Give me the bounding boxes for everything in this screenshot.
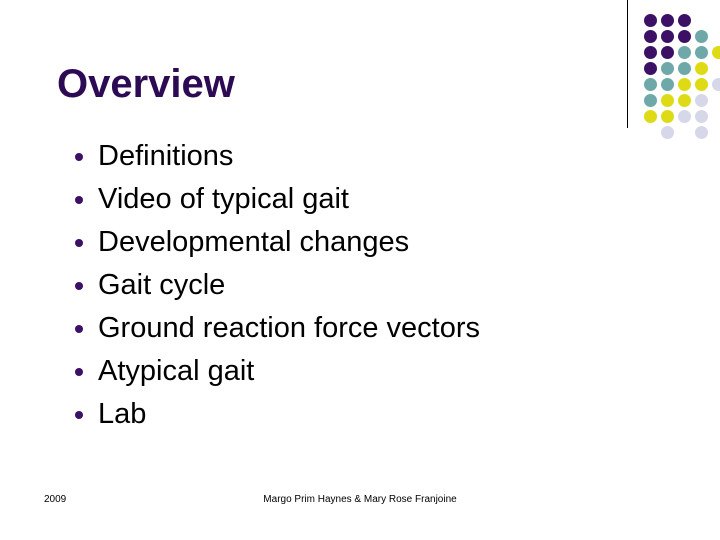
list-item-label: Lab — [98, 393, 146, 436]
slide-canvas: Overview Definitions Video of typical ga… — [0, 0, 720, 540]
decorative-dot — [644, 110, 657, 123]
decorative-dot — [695, 94, 708, 107]
decorative-dot — [661, 62, 674, 75]
decorative-dot — [661, 94, 674, 107]
decorative-dot — [695, 30, 708, 43]
list-item-label: Developmental changes — [98, 221, 409, 264]
decorative-dot — [712, 46, 720, 59]
decorative-dot — [695, 110, 708, 123]
decorative-dot — [695, 78, 708, 91]
page-title: Overview — [57, 63, 235, 105]
list-item-label: Definitions — [98, 135, 233, 178]
decorative-dot — [695, 62, 708, 75]
bullet-marker-icon — [75, 239, 83, 247]
decorative-dot — [661, 30, 674, 43]
decorative-dot — [695, 126, 708, 139]
decorative-dot — [678, 46, 691, 59]
decorative-dot — [644, 62, 657, 75]
decorative-dot — [661, 78, 674, 91]
list-item: Lab — [72, 393, 612, 436]
decorative-dot — [712, 78, 720, 91]
list-item-label: Video of typical gait — [98, 178, 349, 221]
decorative-dot — [678, 110, 691, 123]
list-item-label: Gait cycle — [98, 264, 225, 307]
decorative-dot — [678, 14, 691, 27]
bullet-marker-icon — [75, 153, 83, 161]
decorative-dot — [644, 94, 657, 107]
decorative-dot — [678, 30, 691, 43]
overview-bullet-list: Definitions Video of typical gait Develo… — [72, 135, 612, 436]
decorative-dot — [678, 94, 691, 107]
list-item: Developmental changes — [72, 221, 612, 264]
decorative-dot — [661, 110, 674, 123]
decorative-dot — [661, 46, 674, 59]
list-item: Gait cycle — [72, 264, 612, 307]
decorative-dot — [695, 46, 708, 59]
bullet-marker-icon — [75, 411, 83, 419]
decorative-dot — [678, 78, 691, 91]
decorative-dot — [678, 62, 691, 75]
decorative-dot — [644, 14, 657, 27]
decorative-dot — [644, 30, 657, 43]
bullet-marker-icon — [75, 196, 83, 204]
list-item: Definitions — [72, 135, 612, 178]
decorative-dot — [661, 126, 674, 139]
decorative-dot-matrix — [644, 14, 720, 129]
bullet-marker-icon — [75, 325, 83, 333]
decorative-dot — [644, 78, 657, 91]
bullet-marker-icon — [75, 282, 83, 290]
bullet-marker-icon — [75, 368, 83, 376]
list-item-label: Ground reaction force vectors — [98, 307, 480, 350]
list-item: Atypical gait — [72, 350, 612, 393]
decorative-dot — [644, 46, 657, 59]
decorative-vertical-rule — [627, 0, 628, 128]
list-item: Video of typical gait — [72, 178, 612, 221]
list-item: Ground reaction force vectors — [72, 307, 612, 350]
decorative-dot — [661, 14, 674, 27]
list-item-label: Atypical gait — [98, 350, 254, 393]
footer-authors: Margo Prim Haynes & Mary Rose Franjoine — [0, 494, 720, 505]
